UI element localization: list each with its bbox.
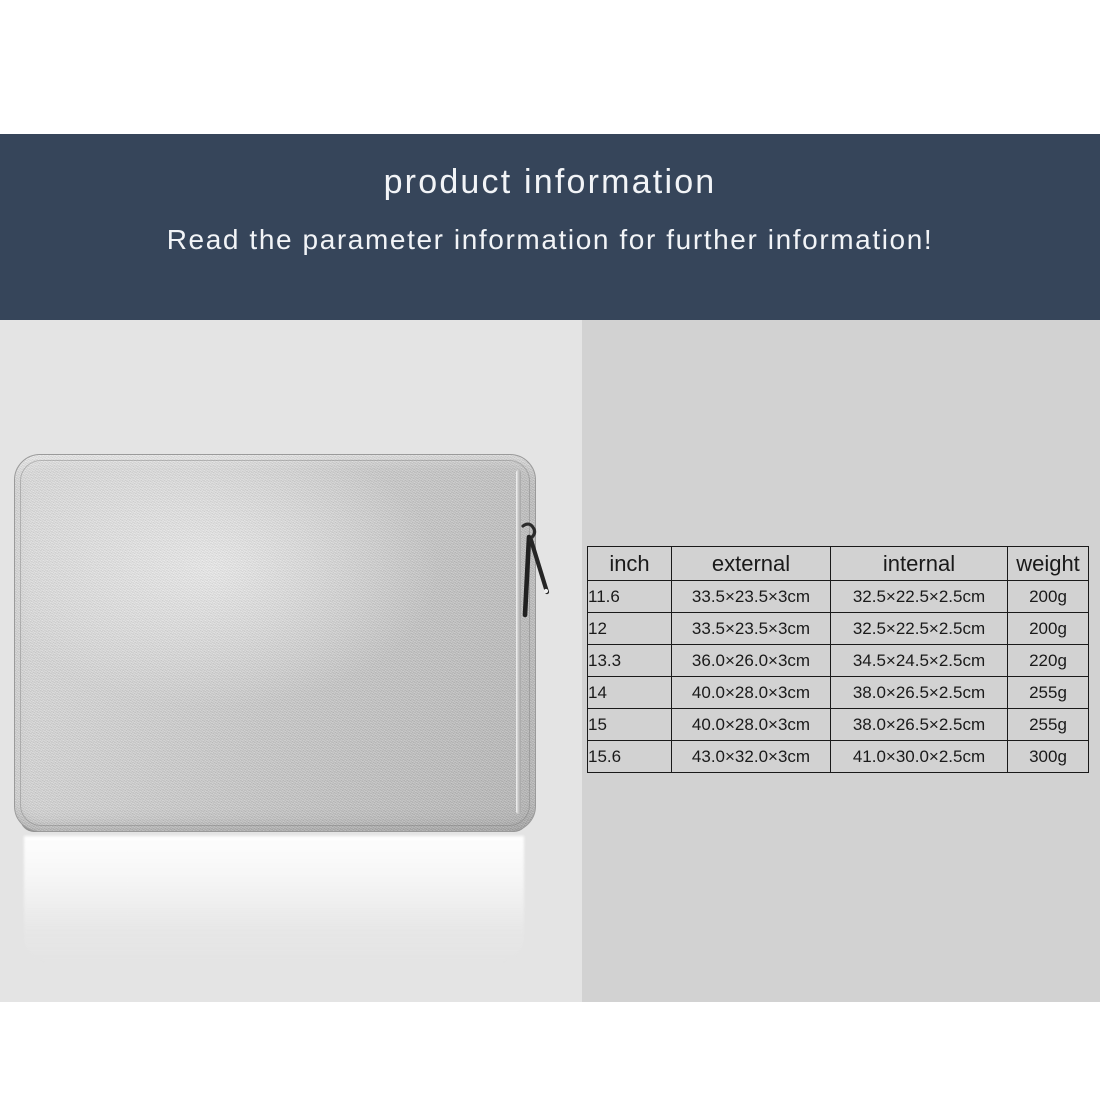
column-header-external: external [672, 547, 831, 581]
cell-weight: 300g [1008, 741, 1089, 773]
table-header-row: inch external internal weight [588, 547, 1089, 581]
cell-weight: 255g [1008, 709, 1089, 741]
cell-weight: 200g [1008, 581, 1089, 613]
zipper-pull-icon [516, 520, 556, 625]
table-row: 14 40.0×28.0×3cm 38.0×26.5×2.5cm 255g [588, 677, 1089, 709]
cell-internal: 41.0×30.0×2.5cm [831, 741, 1008, 773]
cell-internal: 32.5×22.5×2.5cm [831, 613, 1008, 645]
table-row: 15 40.0×28.0×3cm 38.0×26.5×2.5cm 255g [588, 709, 1089, 741]
sleeve-reflection [24, 836, 524, 964]
cell-weight: 200g [1008, 613, 1089, 645]
table-row: 11.6 33.5×23.5×3cm 32.5×22.5×2.5cm 200g [588, 581, 1089, 613]
table-row: 12 33.5×23.5×3cm 32.5×22.5×2.5cm 200g [588, 613, 1089, 645]
cell-inch: 15 [588, 709, 672, 741]
cell-external: 33.5×23.5×3cm [672, 581, 831, 613]
cell-inch: 11.6 [588, 581, 672, 613]
product-image-panel [0, 320, 582, 1002]
cell-weight: 220g [1008, 645, 1089, 677]
sleeve-body [14, 454, 536, 832]
cell-external: 33.5×23.5×3cm [672, 613, 831, 645]
column-header-inch: inch [588, 547, 672, 581]
cell-external: 36.0×26.0×3cm [672, 645, 831, 677]
cell-internal: 32.5×22.5×2.5cm [831, 581, 1008, 613]
page-subtitle: Read the parameter information for furth… [0, 222, 1100, 258]
cell-inch: 12 [588, 613, 672, 645]
cell-external: 40.0×28.0×3cm [672, 677, 831, 709]
header-band: product information Read the parameter i… [0, 134, 1100, 320]
table-row: 13.3 36.0×26.0×3cm 34.5×24.5×2.5cm 220g [588, 645, 1089, 677]
laptop-sleeve-photo [0, 320, 582, 1002]
cell-inch: 15.6 [588, 741, 672, 773]
page-title: product information [0, 162, 1100, 202]
table-row: 15.6 43.0×32.0×3cm 41.0×30.0×2.5cm 300g [588, 741, 1089, 773]
cell-inch: 13.3 [588, 645, 672, 677]
cell-external: 43.0×32.0×3cm [672, 741, 831, 773]
cell-internal: 38.0×26.5×2.5cm [831, 677, 1008, 709]
specification-table: inch external internal weight 11.6 33.5×… [587, 546, 1089, 773]
cell-internal: 38.0×26.5×2.5cm [831, 709, 1008, 741]
cell-weight: 255g [1008, 677, 1089, 709]
sleeve-fabric-texture [15, 455, 535, 831]
cell-internal: 34.5×24.5×2.5cm [831, 645, 1008, 677]
cell-external: 40.0×28.0×3cm [672, 709, 831, 741]
column-header-internal: internal [831, 547, 1008, 581]
column-header-weight: weight [1008, 547, 1089, 581]
cell-inch: 14 [588, 677, 672, 709]
spec-table-panel: inch external internal weight 11.6 33.5×… [582, 320, 1100, 1002]
